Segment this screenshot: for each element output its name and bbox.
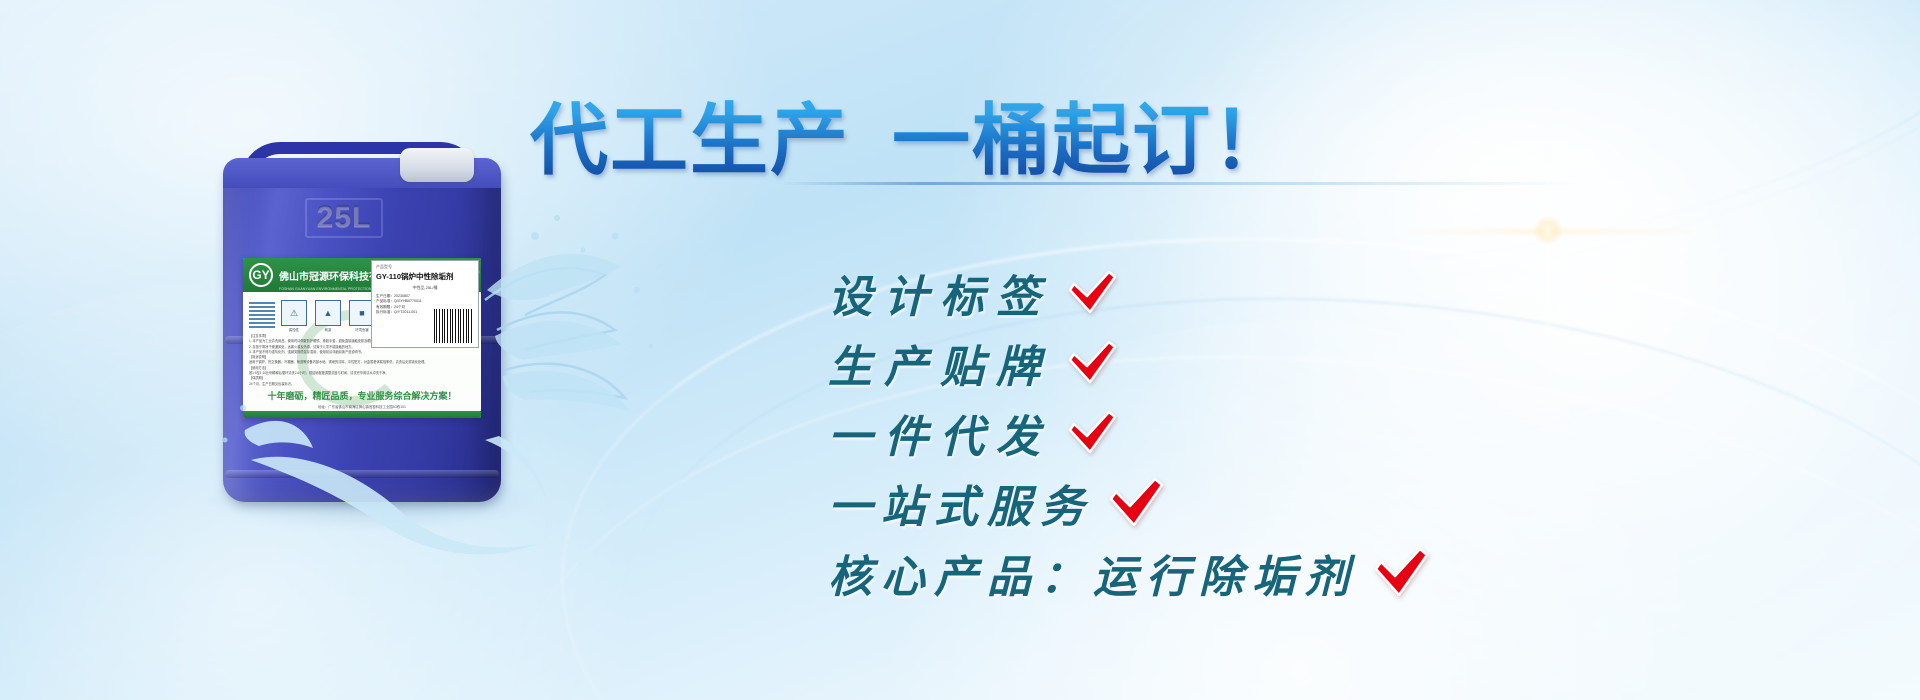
feature-item: 设计标签 [828, 258, 1430, 328]
red-check-icon [1107, 477, 1165, 529]
product-spec-sub: 中性品 25L/桶 [376, 285, 474, 291]
feature-item: 一站式服务 [828, 468, 1430, 538]
drum-cap [400, 148, 474, 182]
lens-flare-vertical [1545, 120, 1551, 420]
feature-label: 核心产品：运行除垢剂 [828, 541, 1358, 605]
barcode-icon [434, 309, 474, 343]
hazard-icon-item: ▲ 刺激 [315, 300, 341, 332]
feature-label: 生产贴牌 [828, 331, 1052, 395]
product-model-name: GY-110锅炉中性除垢剂 [376, 271, 474, 282]
feature-item: 一件代发 [828, 398, 1430, 468]
drum-ridge [225, 470, 499, 478]
feature-label: 一站式服务 [828, 471, 1093, 535]
label-slogan: 十年磨砺，精匠品质，专业服务综合解决方案！ [243, 389, 481, 402]
promo-banner: 代工生产一桶起订！ 设计标签 生产贴牌 一件代发 [0, 0, 1920, 700]
lens-flare-core [1533, 215, 1563, 245]
hazard-caption: 刺激 [325, 327, 332, 332]
feature-label: 一件代发 [828, 401, 1052, 465]
qr-code-icon [249, 302, 275, 328]
product-label: GY 佛山市冠源环保科技有限公司 FOSHAN GUANYUAN ENVIRON… [243, 258, 481, 418]
spec-caption: 产品型号 [376, 264, 474, 270]
hazard-caption: 环境危害 [355, 327, 369, 332]
feature-item: 生产贴牌 [828, 328, 1430, 398]
spec-box: 产品型号 GY-110锅炉中性除垢剂 中性品 25L/桶 生产日期：202308… [371, 260, 479, 348]
feature-item: 核心产品：运行除垢剂 [828, 538, 1430, 608]
hazard-caption: 腐蚀性 [289, 327, 299, 332]
volume-marking: 25L [305, 198, 383, 238]
red-check-icon [1372, 547, 1430, 599]
headline-underline [780, 182, 1580, 185]
hazard-icon-item: ⚠ 腐蚀性 [281, 300, 307, 332]
corrosive-icon: ⚠ [281, 300, 307, 326]
label-contact: 地址：广东省佛山市南海区狮山镇官窑科技工业园A3栋101 [243, 404, 481, 409]
brand-logo-icon: GY [249, 263, 273, 287]
red-check-icon [1066, 270, 1118, 316]
feature-list: 设计标签 生产贴牌 一件代发 一站式服务 [828, 258, 1430, 608]
red-check-icon [1066, 410, 1118, 456]
label-footer-bar [243, 411, 481, 418]
feature-label: 设计标签 [828, 261, 1052, 325]
headline-part2: 一桶起订！ [892, 96, 1292, 184]
body-line: 24个月，生产日期见包装标识。 [249, 382, 475, 387]
red-check-icon [1066, 340, 1118, 386]
flammable-icon: ▲ [315, 300, 341, 326]
product-image: 25L GY 佛山市冠源环保科技有限公司 FOSHAN GUANYUAN ENV… [185, 140, 685, 570]
